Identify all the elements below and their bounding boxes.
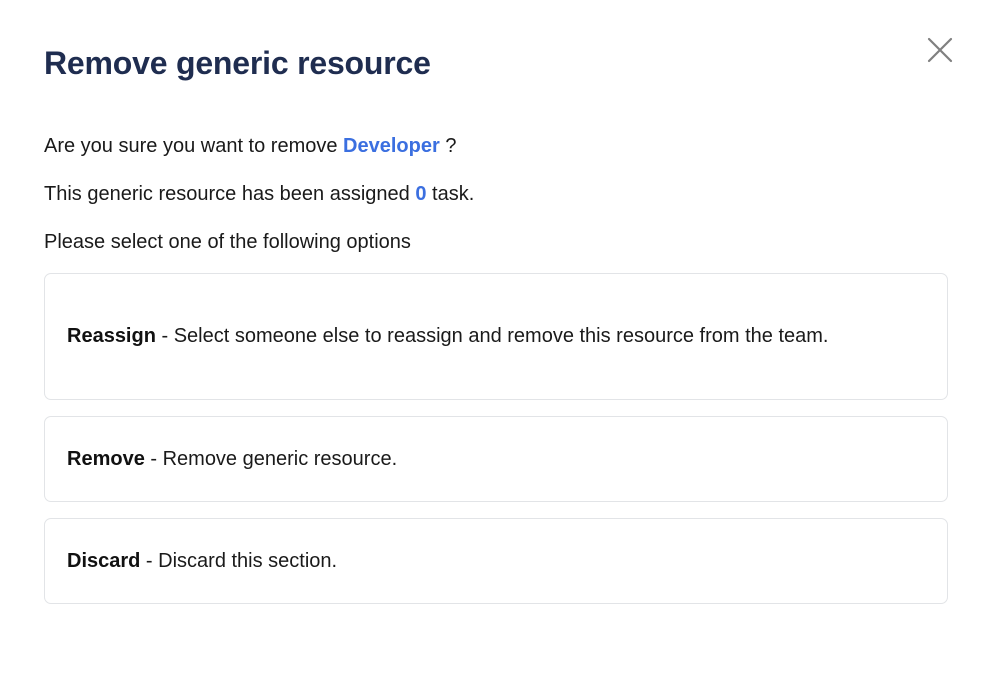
option-discard-description: - Discard this section. (140, 550, 337, 572)
option-card-remove[interactable]: Remove - Remove generic resource. (44, 416, 948, 502)
option-discard-text: Discard - Discard this section. (67, 539, 337, 584)
resource-name: Developer (343, 135, 440, 157)
option-remove-name: Remove (67, 448, 145, 470)
message-line-instruction: Please select one of the following optio… (44, 218, 924, 266)
option-remove-description: - Remove generic resource. (145, 448, 397, 470)
dialog-message: Are you sure you want to remove Develope… (44, 122, 924, 266)
assigned-task-count: 0 (415, 183, 426, 205)
close-icon (927, 37, 953, 63)
option-reassign-text: Reassign - Select someone else to reassi… (67, 314, 828, 359)
option-list: Reassign - Select someone else to reassi… (44, 273, 948, 604)
message-line-task-count: This generic resource has been assigned … (44, 170, 924, 218)
close-button[interactable] (918, 28, 962, 72)
option-discard-name: Discard (67, 550, 140, 572)
option-card-reassign[interactable]: Reassign - Select someone else to reassi… (44, 273, 948, 400)
option-remove-text: Remove - Remove generic resource. (67, 437, 397, 482)
message-line1-suffix: ? (440, 135, 457, 157)
option-reassign-name: Reassign (67, 325, 156, 347)
message-line2-suffix: task. (426, 183, 474, 205)
option-reassign-description: - Select someone else to reassign and re… (156, 325, 829, 347)
message-line-confirm: Are you sure you want to remove Develope… (44, 122, 924, 170)
message-line1-prefix: Are you sure you want to remove (44, 135, 343, 157)
message-line2-prefix: This generic resource has been assigned (44, 183, 415, 205)
page-title: Remove generic resource (44, 42, 431, 84)
remove-generic-resource-dialog: Remove generic resource Are you sure you… (0, 0, 988, 682)
option-card-discard[interactable]: Discard - Discard this section. (44, 518, 948, 604)
